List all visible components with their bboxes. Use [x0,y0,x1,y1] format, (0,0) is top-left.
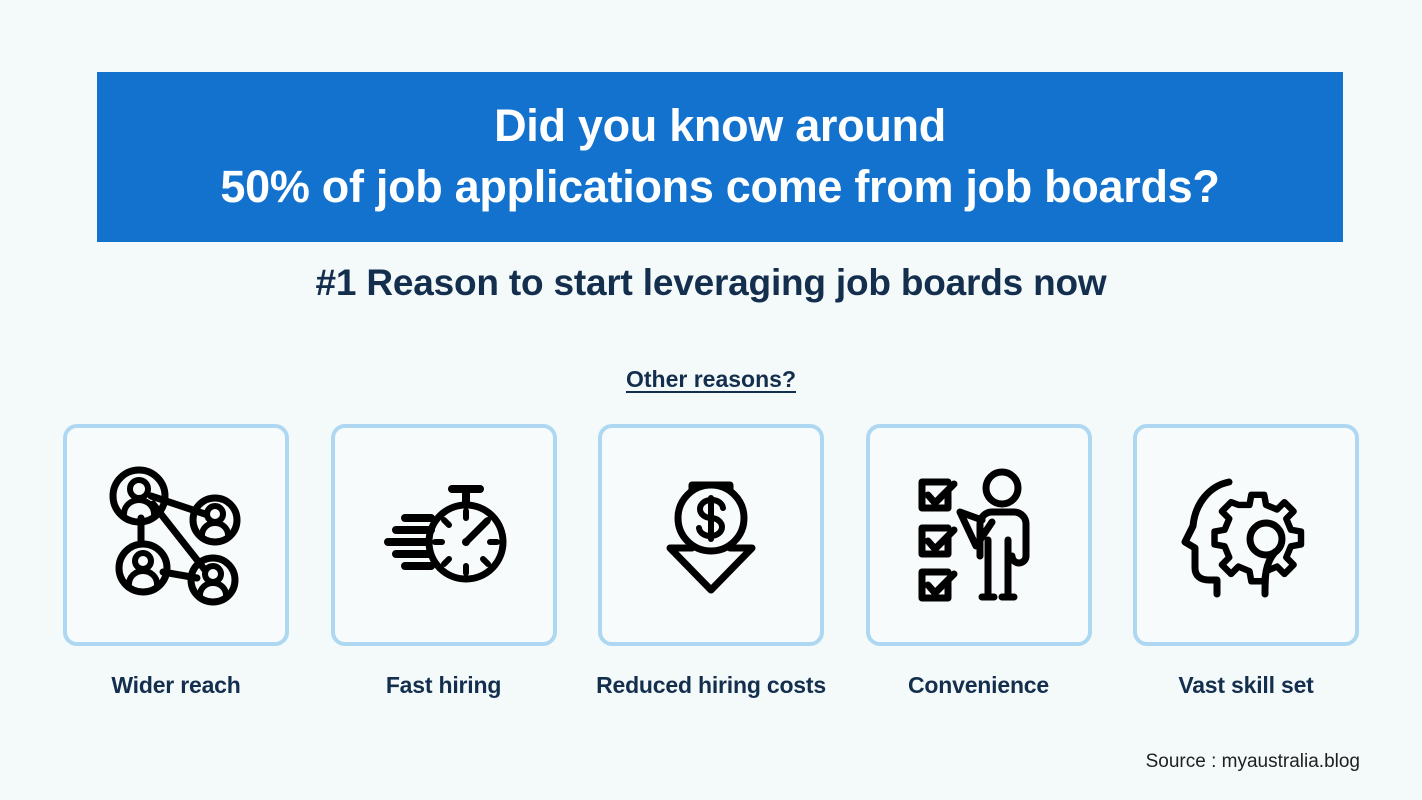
icon-card-frame [866,424,1092,646]
benefit-card-label: Vast skill set [1178,672,1313,699]
other-reasons-row: Other reasons? [0,366,1422,393]
person-checklist-icon [904,460,1054,610]
icon-card-frame [331,424,557,646]
benefit-card-label: Convenience [908,672,1049,699]
benefit-cards-row: Wider reach [63,424,1359,699]
subtitle-text: #1 Reason to start leveraging job boards… [0,262,1422,304]
other-reasons-label: Other reasons? [626,366,796,393]
benefit-card-label: Fast hiring [386,672,501,699]
network-people-icon [101,460,251,610]
icon-card-frame [63,424,289,646]
infographic-canvas: Did you know around 50% of job applicati… [0,0,1422,800]
benefit-card-fast-hiring: Fast hiring [331,424,557,699]
source-attribution: Source : myaustralia.blog [1146,751,1360,773]
dollar-down-arrow-icon [636,460,786,610]
benefit-card-label: Reduced hiring costs [596,672,826,699]
stopwatch-speed-icon [369,460,519,610]
benefit-card-reduced-costs: Reduced hiring costs [598,424,824,699]
headline-line-1: Did you know around [494,102,946,151]
benefit-card-convenience: Convenience [866,424,1092,699]
benefit-card-wider-reach: Wider reach [63,424,289,699]
headline-line-2: 50% of job applications come from job bo… [220,163,1219,212]
benefit-card-vast-skill-set: Vast skill set [1133,424,1359,699]
icon-card-frame [1133,424,1359,646]
head-gear-icon [1171,460,1321,610]
benefit-card-label: Wider reach [111,672,240,699]
headline-banner: Did you know around 50% of job applicati… [97,72,1343,242]
icon-card-frame [598,424,824,646]
